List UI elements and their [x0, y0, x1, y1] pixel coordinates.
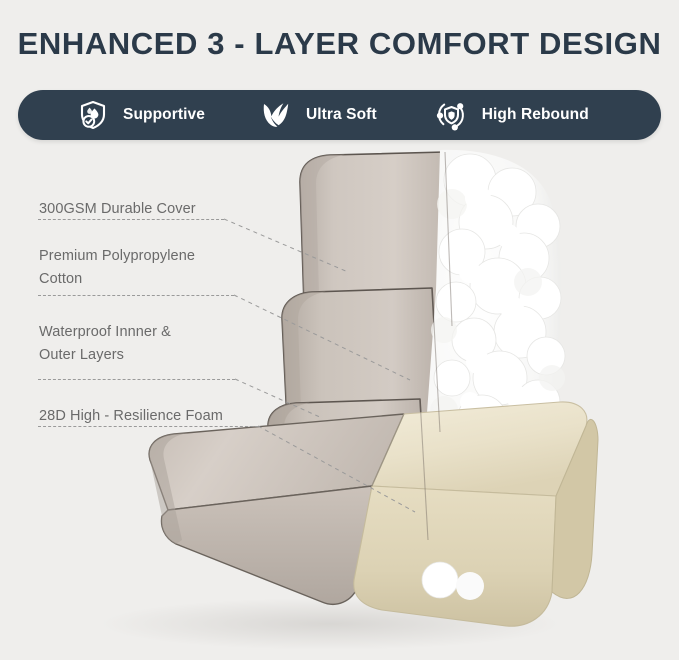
foam-core-top [372, 402, 587, 496]
callout-fiberfill-line2: Cotton [39, 268, 195, 291]
callout-fiberfill: Premium Polypropylene Cotton [39, 245, 195, 291]
callout-waterproof-line2: Outer Layers [39, 344, 171, 367]
callout-fiberfill-line1: Premium Polypropylene [39, 245, 195, 268]
feature-item-high-rebound[interactable]: High Rebound [435, 90, 589, 140]
callout-cover-line1: 300GSM Durable Cover [39, 198, 196, 221]
foam-core-front [354, 486, 556, 626]
feature-item-ultra-soft[interactable]: Ultra Soft [259, 90, 377, 140]
feature-label-ultra-soft: Ultra Soft [306, 106, 377, 124]
feature-label-high-rebound: High Rebound [482, 106, 589, 124]
callout-cover: 300GSM Durable Cover [39, 198, 196, 221]
page-title: ENHANCED 3 - LAYER COMFORT DESIGN [0, 26, 679, 62]
seat-base [149, 402, 598, 626]
callout-foam: 28D High - Resilience Foam [39, 405, 223, 428]
feature-label-supportive: Supportive [123, 106, 205, 124]
callout-waterproof: Waterproof Innner & Outer Layers [39, 321, 171, 367]
shield-orbit-icon [435, 98, 469, 132]
callout-waterproof-line1: Waterproof Innner & [39, 321, 171, 344]
infographic-canvas: ENHANCED 3 - LAYER COMFORT DESIGN Suppor… [0, 0, 679, 660]
feature-bar: Supportive Ultra Soft [18, 90, 661, 140]
feature-item-supportive[interactable]: Supportive [76, 90, 205, 140]
feather-icon [259, 98, 293, 132]
shield-droplet-check-icon [76, 98, 110, 132]
callout-foam-line1: 28D High - Resilience Foam [39, 405, 223, 428]
